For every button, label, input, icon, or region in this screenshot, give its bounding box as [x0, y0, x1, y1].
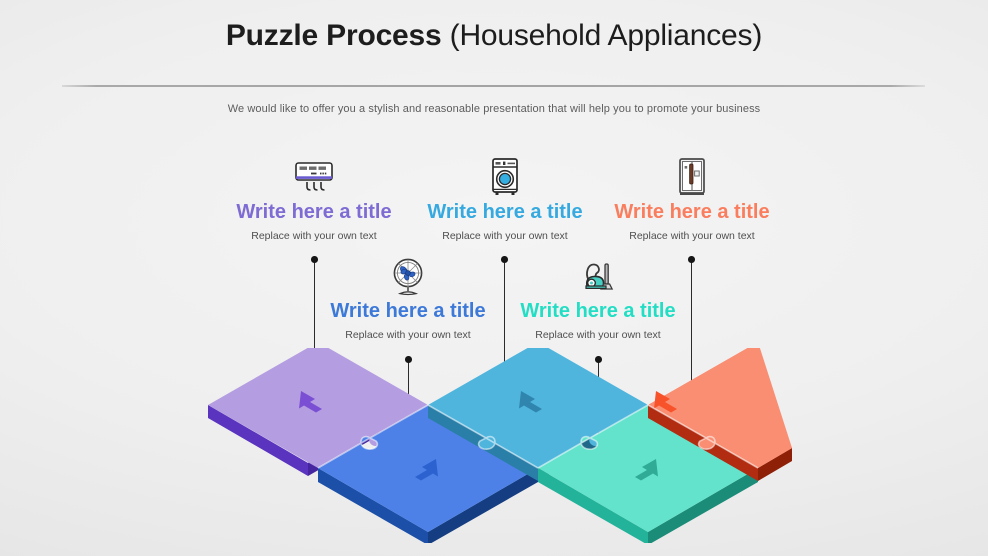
connector-dot — [501, 256, 508, 263]
washing-machine-icon — [415, 157, 595, 197]
callout-electric-fan[interactable]: Write here a title Replace with your own… — [318, 256, 498, 341]
vacuum-cleaner-icon — [508, 256, 688, 296]
callout-air-conditioner[interactable]: Write here a title Replace with your own… — [224, 157, 404, 242]
callout-subtitle: Replace with your own text — [508, 329, 688, 341]
page-subtitle: We would like to offer you a stylish and… — [0, 103, 988, 115]
callout-title: Write here a title — [602, 201, 782, 223]
header-divider — [62, 85, 925, 87]
callout-subtitle: Replace with your own text — [415, 230, 595, 242]
callout-title: Write here a title — [224, 201, 404, 223]
callout-title: Write here a title — [508, 300, 688, 322]
page-title-light: (Household Appliances) — [442, 19, 763, 52]
callout-subtitle: Replace with your own text — [318, 329, 498, 341]
refrigerator-icon — [602, 157, 782, 197]
callout-refrigerator[interactable]: Write here a title Replace with your own… — [602, 157, 782, 242]
callout-title: Write here a title — [318, 300, 498, 322]
air-conditioner-icon — [224, 157, 404, 197]
slide-canvas: Puzzle Process (Household Appliances) We… — [0, 0, 988, 556]
connector-dot — [688, 256, 695, 263]
callout-subtitle: Replace with your own text — [602, 230, 782, 242]
callout-washing-machine[interactable]: Write here a title Replace with your own… — [415, 157, 595, 242]
puzzle-diagram — [200, 348, 800, 543]
callout-vacuum-cleaner[interactable]: Write here a title Replace with your own… — [508, 256, 688, 341]
connector-dot — [311, 256, 318, 263]
page-title: Puzzle Process (Household Appliances) — [0, 18, 988, 54]
page-title-bold: Puzzle Process — [226, 19, 442, 52]
callout-subtitle: Replace with your own text — [224, 230, 404, 242]
callout-title: Write here a title — [415, 201, 595, 223]
electric-fan-icon — [318, 256, 498, 296]
